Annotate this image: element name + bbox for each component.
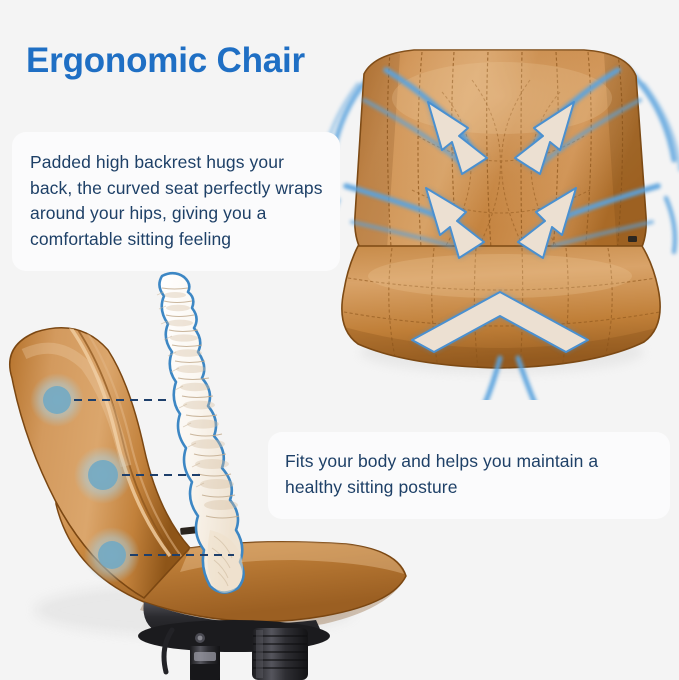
page-title: Ergonomic Chair — [26, 41, 305, 81]
posture-caption-text: Fits your body and helps you maintain a … — [285, 449, 656, 500]
posture-caption-panel: Fits your body and helps you maintain a … — [268, 432, 670, 519]
backrest-caption-panel: Padded high backrest hugs your back, the… — [12, 132, 340, 271]
infographic-canvas: Ergonomic Chair Padded high backrest hug… — [0, 0, 679, 679]
backrest-caption-text: Padded high backrest hugs your back, the… — [30, 150, 324, 253]
brand-tag-icon — [628, 236, 637, 242]
